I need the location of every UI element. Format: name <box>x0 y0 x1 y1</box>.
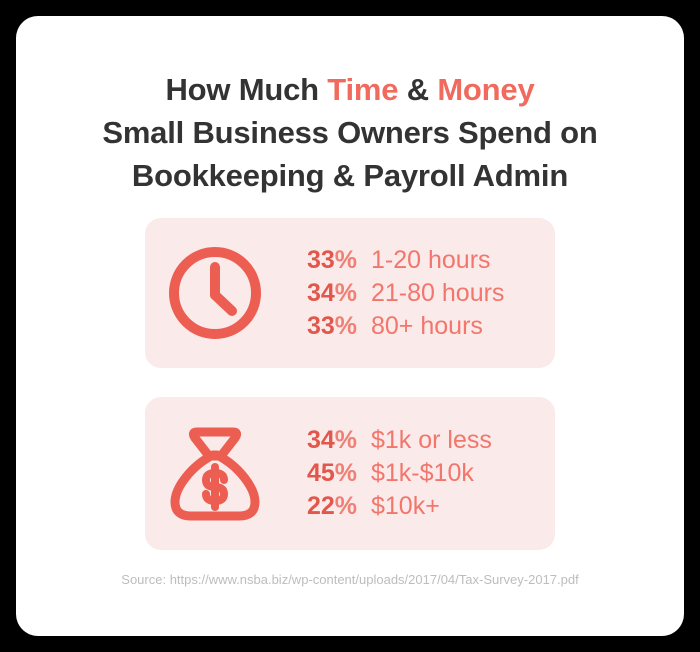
stat-rows-time: 33% 1-20 hours 34% 21-80 hours 33% 80+ h… <box>285 244 555 343</box>
stat-value: 34 <box>307 279 335 307</box>
headline-line-1: How Much Time & Money <box>16 68 684 111</box>
money-bag-icon <box>163 422 267 526</box>
stat-label: $10k+ <box>371 490 440 523</box>
stat-label: 21-80 hours <box>371 277 504 310</box>
stat-percent: 45% <box>285 457 357 490</box>
headline-part-ampersand: & <box>398 72 437 107</box>
stat-rows-money: 34% $1k or less 45% $1k-$10k 22% $10k+ <box>285 424 555 523</box>
stat-row: 45% $1k-$10k <box>285 457 555 490</box>
stat-label: 80+ hours <box>371 310 483 343</box>
stat-value: 34 <box>307 426 335 454</box>
percent-sign: % <box>335 246 357 274</box>
percent-sign: % <box>335 279 357 307</box>
stat-card-time: 33% 1-20 hours 34% 21-80 hours 33% 80+ h… <box>145 218 555 368</box>
source-citation: Source: https://www.nsba.biz/wp-content/… <box>16 572 684 587</box>
stat-value: 33 <box>307 312 335 340</box>
headline-line-2: Small Business Owners Spend on <box>16 111 684 154</box>
stat-value: 45 <box>307 459 335 487</box>
stat-row: 22% $10k+ <box>285 490 555 523</box>
percent-sign: % <box>335 426 357 454</box>
headline-line-3: Bookkeeping & Payroll Admin <box>16 154 684 197</box>
headline-accent-money: Money <box>437 72 534 107</box>
stat-row: 34% 21-80 hours <box>285 277 555 310</box>
stat-row: 34% $1k or less <box>285 424 555 457</box>
stat-percent: 34% <box>285 277 357 310</box>
stat-value: 22 <box>307 492 335 520</box>
headline-part-plain: How Much <box>165 72 327 107</box>
stat-percent: 33% <box>285 310 357 343</box>
screenshot-stage: How Much Time & Money Small Business Own… <box>0 0 700 652</box>
stat-value: 33 <box>307 246 335 274</box>
stat-percent: 34% <box>285 424 357 457</box>
stat-card-money: 34% $1k or less 45% $1k-$10k 22% $10k+ <box>145 397 555 550</box>
page-title: How Much Time & Money Small Business Own… <box>16 68 684 197</box>
stat-row: 33% 80+ hours <box>285 310 555 343</box>
stat-percent: 33% <box>285 244 357 277</box>
money-bag-icon-slot <box>145 422 285 526</box>
stat-label: $1k or less <box>371 424 492 457</box>
stat-label: 1-20 hours <box>371 244 491 277</box>
percent-sign: % <box>335 492 357 520</box>
stat-percent: 22% <box>285 490 357 523</box>
percent-sign: % <box>335 459 357 487</box>
clock-icon-slot <box>145 241 285 345</box>
headline-accent-time: Time <box>327 72 398 107</box>
stat-row: 33% 1-20 hours <box>285 244 555 277</box>
clock-icon <box>163 241 267 345</box>
percent-sign: % <box>335 312 357 340</box>
infographic-poster: How Much Time & Money Small Business Own… <box>16 16 684 636</box>
stat-label: $1k-$10k <box>371 457 474 490</box>
